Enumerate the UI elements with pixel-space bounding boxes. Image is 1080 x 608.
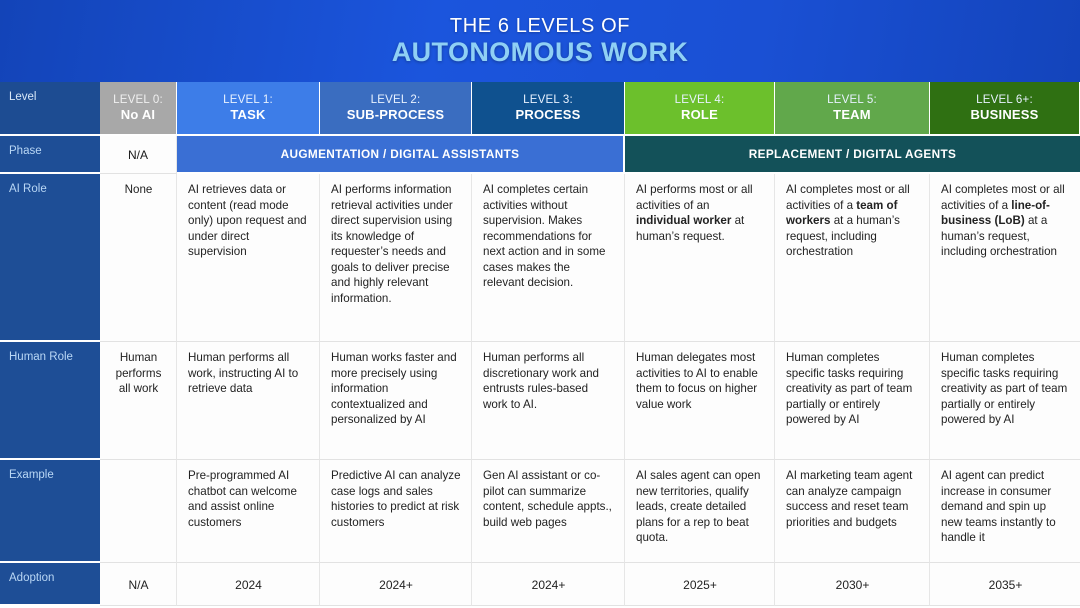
column-header-level3[interactable]: LEVEL 3: PROCESS xyxy=(472,82,625,136)
column-header-level6-bottom: BUSINESS xyxy=(970,107,1038,122)
human-role-cell-level6: Human completes specific tasks requiring… xyxy=(930,342,1080,460)
example-cell-level3: Gen AI assistant or co-pilot can summari… xyxy=(472,460,625,563)
column-header-level2-top: LEVEL 2: xyxy=(371,94,421,108)
ai-role-cell-level1: AI retrieves data or content (read mode … xyxy=(177,174,320,342)
ai-role-cell-level0: None xyxy=(100,174,177,342)
column-header-level1[interactable]: LEVEL 1: TASK xyxy=(177,82,320,136)
column-header-level4-bottom: ROLE xyxy=(681,107,718,122)
ai-role-cell-level3: AI completes certain activities without … xyxy=(472,174,625,342)
column-header-level0[interactable]: LEVEL 0: No AI xyxy=(100,82,177,136)
column-header-level2[interactable]: LEVEL 2: SUB-PROCESS xyxy=(320,82,472,136)
phase-cell-level0: N/A xyxy=(100,136,177,174)
example-cell-level5: AI marketing team agent can analyze camp… xyxy=(775,460,930,563)
table-row-human-role: Human Role Human performs all work Human… xyxy=(0,342,1080,460)
table-row-example: Example Pre-programmed AI chatbot can we… xyxy=(0,460,1080,563)
column-header-level5-bottom: TEAM xyxy=(833,107,871,122)
human-role-cell-level3: Human performs all discretionary work an… xyxy=(472,342,625,460)
column-header-level6[interactable]: LEVEL 6+: BUSINESS xyxy=(930,82,1080,136)
ai-role-cell-level6: AI completes most or all activities of a… xyxy=(930,174,1080,342)
row-label-level: Level xyxy=(0,82,100,136)
column-header-level1-bottom: TASK xyxy=(230,107,265,122)
levels-table: Level LEVEL 0: No AI LEVEL 1: TASK LEVEL… xyxy=(0,82,1080,608)
adoption-cell-level3: 2024+ xyxy=(472,563,625,606)
ai-role-level4-bold: individual worker xyxy=(636,214,731,227)
ai-role-cell-level4: AI performs most or all activities of an… xyxy=(625,174,775,342)
human-role-cell-level0: Human performs all work xyxy=(100,342,177,460)
row-label-phase: Phase xyxy=(0,136,100,174)
adoption-cell-level2: 2024+ xyxy=(320,563,472,606)
column-header-level4[interactable]: LEVEL 4: ROLE xyxy=(625,82,775,136)
column-header-level0-top: LEVEL 0: xyxy=(113,94,163,108)
ai-role-cell-level5: AI completes most or all activities of a… xyxy=(775,174,930,342)
human-role-cell-level4: Human delegates most activities to AI to… xyxy=(625,342,775,460)
table-row-ai-role: AI Role None AI retrieves data or conten… xyxy=(0,174,1080,342)
column-header-level5-top: LEVEL 5: xyxy=(827,94,877,108)
row-label-human-role: Human Role xyxy=(0,342,100,460)
title-line-2: AUTONOMOUS WORK xyxy=(392,39,689,66)
row-label-ai-role: AI Role xyxy=(0,174,100,342)
title-banner: THE 6 LEVELS OF AUTONOMOUS WORK xyxy=(0,0,1080,82)
slide-root: THE 6 LEVELS OF AUTONOMOUS WORK Level LE… xyxy=(0,0,1080,608)
human-role-cell-level1: Human performs all work, instructing AI … xyxy=(177,342,320,460)
adoption-cell-level5: 2030+ xyxy=(775,563,930,606)
adoption-cell-level0: N/A xyxy=(100,563,177,606)
example-cell-level1: Pre-programmed AI chatbot can welcome an… xyxy=(177,460,320,563)
column-header-level2-bottom: SUB-PROCESS xyxy=(347,107,445,122)
column-header-level3-bottom: PROCESS xyxy=(516,107,581,122)
adoption-cell-level1: 2024 xyxy=(177,563,320,606)
adoption-cell-level6: 2035+ xyxy=(930,563,1080,606)
column-header-level0-bottom: No AI xyxy=(121,107,155,122)
table-row-adoption: Adoption N/A 2024 2024+ 2024+ 2025+ 2030… xyxy=(0,563,1080,606)
column-header-level4-top: LEVEL 4: xyxy=(675,94,725,108)
table-row-phase: Phase N/A AUGMENTATION / DIGITAL ASSISTA… xyxy=(0,136,1080,174)
adoption-cell-level4: 2025+ xyxy=(625,563,775,606)
phase-bar-augmentation: AUGMENTATION / DIGITAL ASSISTANTS xyxy=(177,136,625,174)
row-label-adoption: Adoption xyxy=(0,563,100,606)
column-header-level6-top: LEVEL 6+: xyxy=(976,94,1033,108)
example-cell-level2: Predictive AI can analyze case logs and … xyxy=(320,460,472,563)
row-label-example: Example xyxy=(0,460,100,563)
example-cell-level6: AI agent can predict increase in consume… xyxy=(930,460,1080,563)
human-role-cell-level5: Human completes specific tasks requiring… xyxy=(775,342,930,460)
title-line-1: THE 6 LEVELS OF xyxy=(450,16,630,36)
column-header-level3-top: LEVEL 3: xyxy=(523,94,573,108)
ai-role-cell-level2: AI performs information retrieval activi… xyxy=(320,174,472,342)
column-header-level5[interactable]: LEVEL 5: TEAM xyxy=(775,82,930,136)
example-cell-level4: AI sales agent can open new territories,… xyxy=(625,460,775,563)
example-cell-level0 xyxy=(100,460,177,563)
column-header-level1-top: LEVEL 1: xyxy=(223,94,273,108)
phase-bar-replacement: REPLACEMENT / DIGITAL AGENTS xyxy=(625,136,1080,174)
human-role-cell-level2: Human works faster and more precisely us… xyxy=(320,342,472,460)
ai-role-level4-pre: AI performs most or all activities of an xyxy=(636,183,753,212)
table-row-level-header: Level LEVEL 0: No AI LEVEL 1: TASK LEVEL… xyxy=(0,82,1080,136)
